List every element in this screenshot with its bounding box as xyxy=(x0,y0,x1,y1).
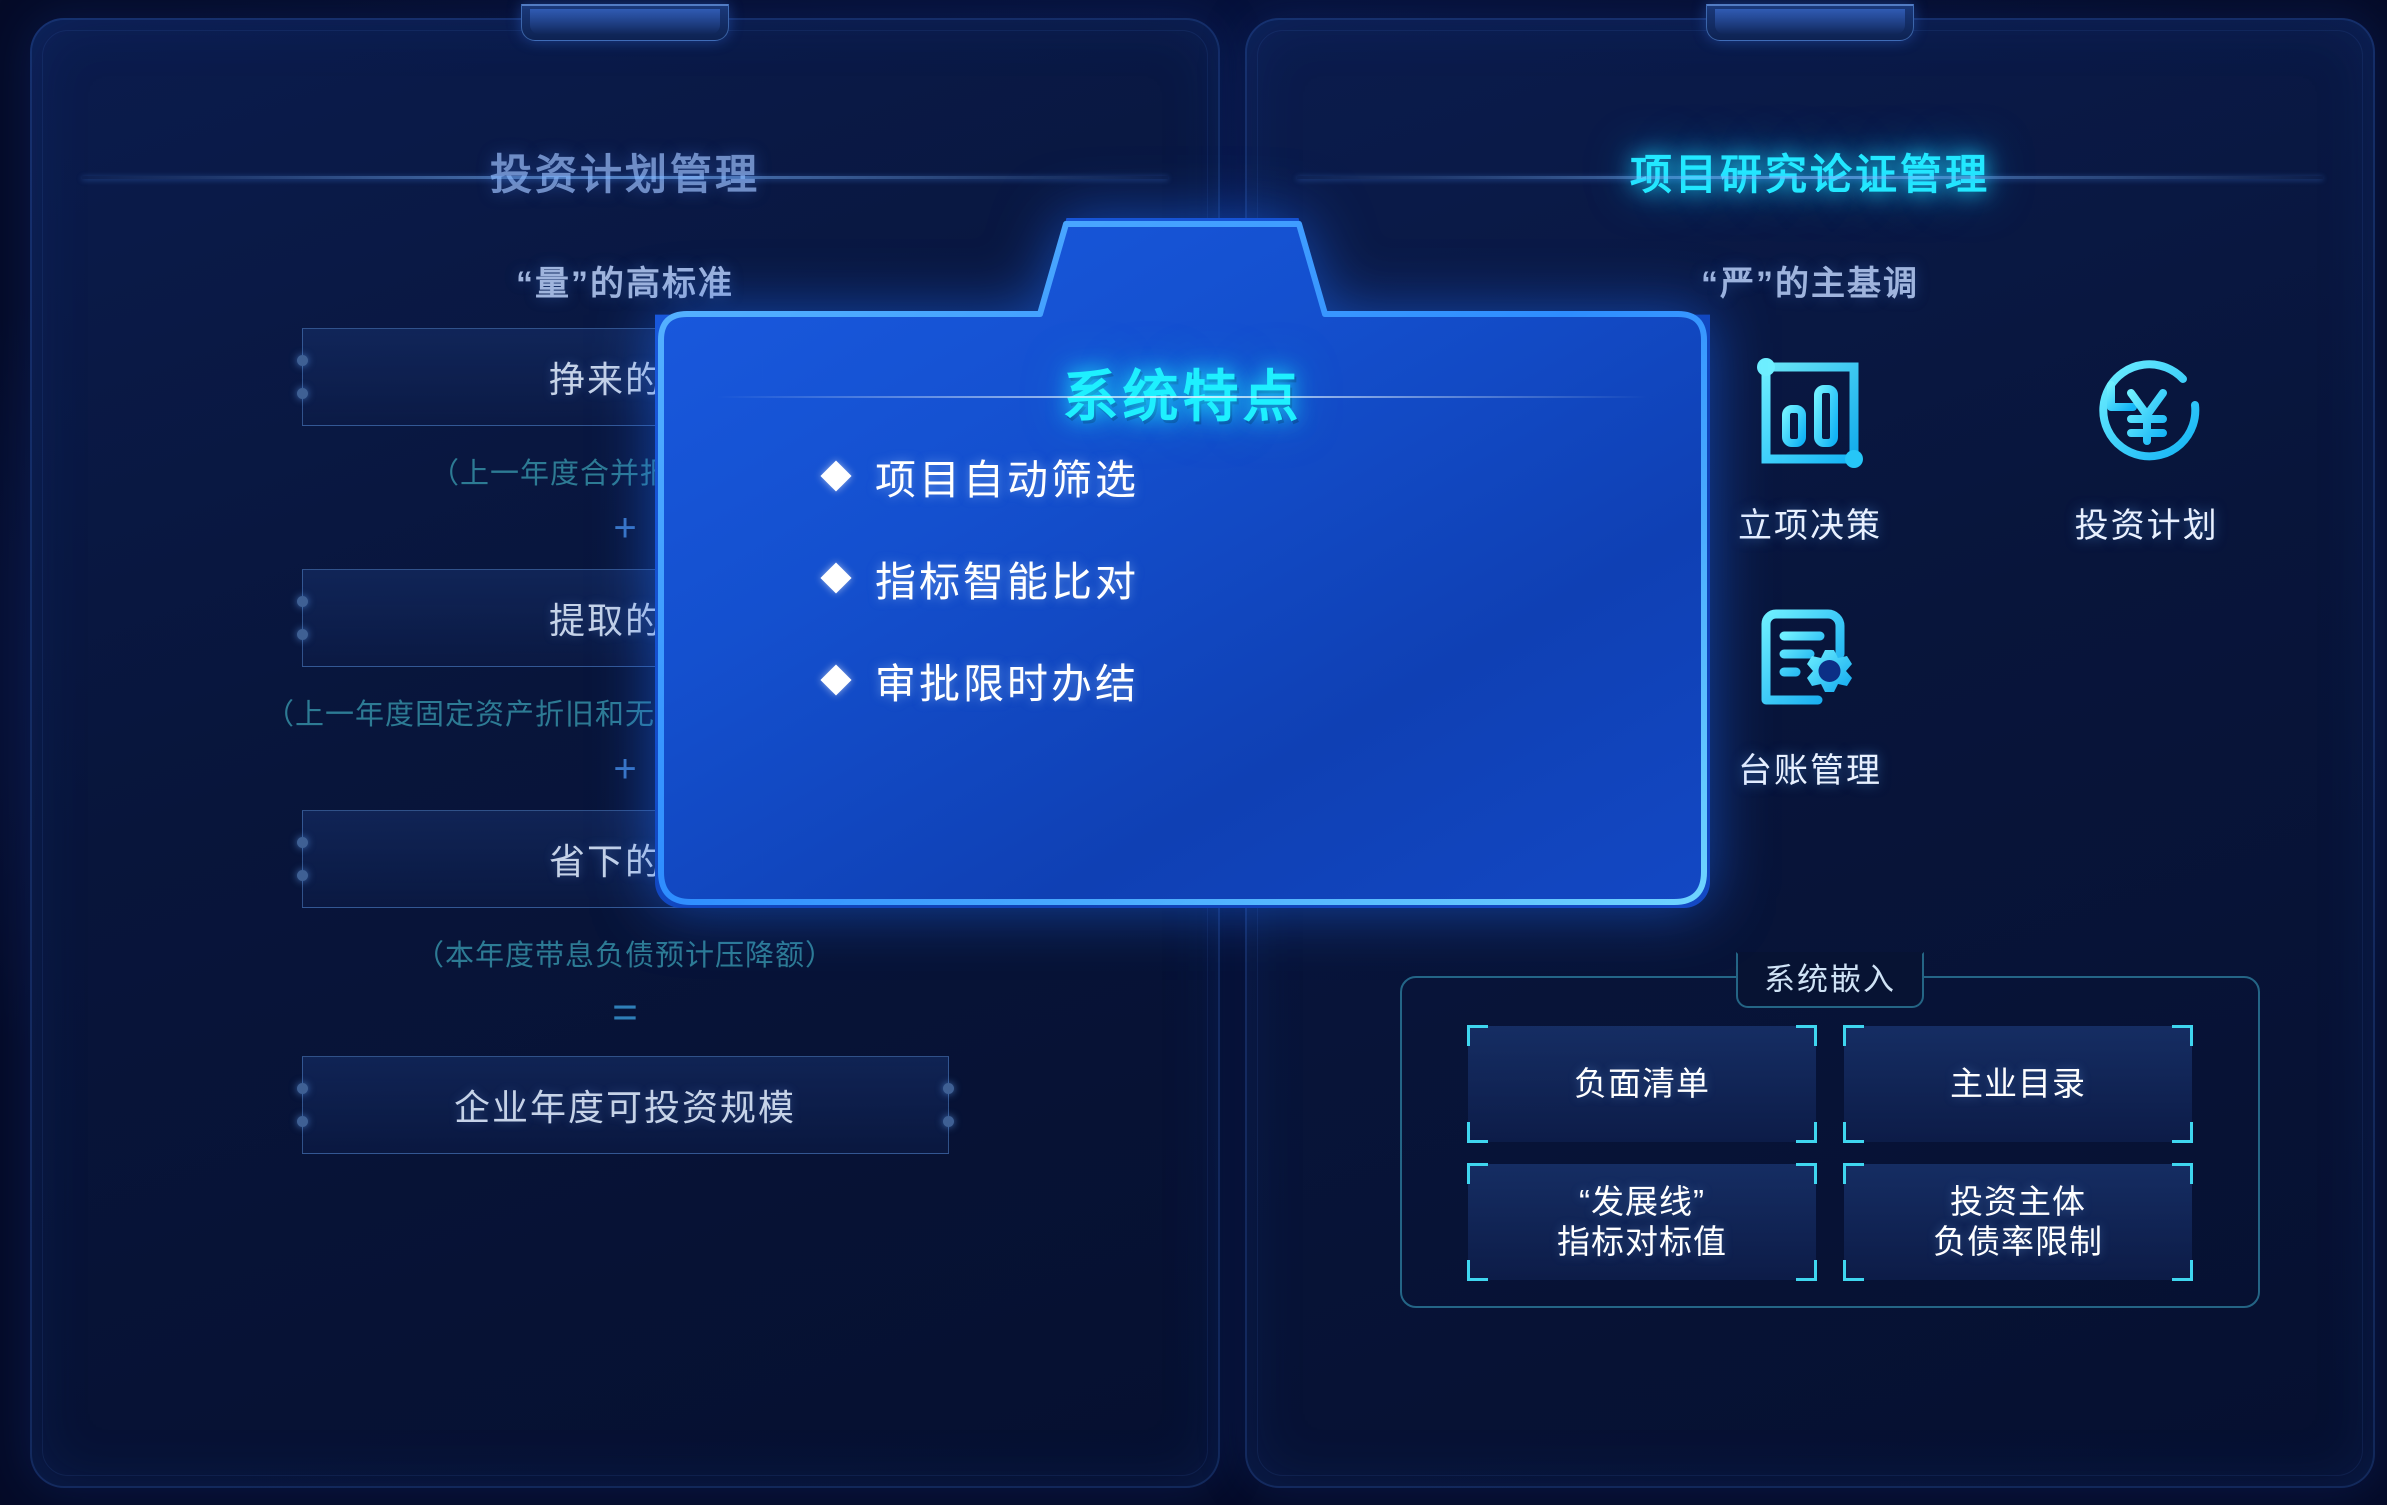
box-dot-icon xyxy=(297,1116,308,1127)
box-dot-icon xyxy=(943,1083,954,1094)
yuan-cycle-icon xyxy=(2083,338,2211,488)
embed-cell-label: “发展线” xyxy=(1579,1183,1705,1220)
system-features-popup[interactable]: 系统特点 项目自动筛选 指标智能比对 审批限时办结 xyxy=(655,218,1710,908)
corner-bracket-icon xyxy=(1843,1163,1864,1184)
right-title-divider xyxy=(1297,176,2323,179)
popup-divider xyxy=(717,396,1648,398)
box-dot-icon xyxy=(297,1083,308,1094)
diamond-bullet-icon xyxy=(820,460,851,491)
corner-bracket-icon xyxy=(2172,1260,2193,1281)
formula-note: （本年度带息负债预计压降额） xyxy=(30,932,1220,974)
module-label: 台账管理 xyxy=(1738,743,1882,792)
box-dot-icon xyxy=(297,837,308,848)
right-panel-title: 项目研究论证管理 xyxy=(1245,141,2375,202)
panel-handle-left xyxy=(521,4,729,41)
corner-bracket-icon xyxy=(1467,1025,1488,1046)
box-dot-icon xyxy=(297,355,308,366)
feature-label: 审批限时办结 xyxy=(875,650,1139,710)
feature-item: 指标智能比对 xyxy=(825,548,1710,608)
box-dot-icon xyxy=(297,388,308,399)
popup-title: 系统特点 xyxy=(655,352,1710,433)
embed-cell-development-line[interactable]: “发展线” 指标对标值 xyxy=(1468,1164,1816,1280)
embed-cell-label: 投资主体 xyxy=(1950,1183,2086,1220)
feature-label: 项目自动筛选 xyxy=(875,446,1139,506)
embed-cell-sublabel: 指标对标值 xyxy=(1557,1223,1727,1260)
corner-bracket-icon xyxy=(1796,1163,1817,1184)
system-embed-grid: 负面清单 主业目录 “发展线” 指标对标值 xyxy=(1468,1026,2192,1280)
popup-feature-list: 项目自动筛选 指标智能比对 审批限时办结 xyxy=(655,446,1710,752)
box-dot-icon xyxy=(943,1116,954,1127)
box-dot-icon xyxy=(297,870,308,881)
feature-label: 指标智能比对 xyxy=(875,548,1139,608)
embed-cell-sublabel: 负债率限制 xyxy=(1933,1223,2103,1260)
box-dot-icon xyxy=(297,596,308,607)
feature-item: 项目自动筛选 xyxy=(825,446,1710,506)
corner-bracket-icon xyxy=(1467,1163,1488,1184)
system-embed-legend: 系统嵌入 xyxy=(1736,952,1924,1008)
left-title-divider xyxy=(82,176,1168,179)
bar-chart-icon xyxy=(1746,338,1874,488)
corner-bracket-icon xyxy=(1796,1260,1817,1281)
module-label: 立项决策 xyxy=(1738,498,1882,547)
corner-bracket-icon xyxy=(2172,1122,2193,1143)
embed-cell-negative-list[interactable]: 负面清单 xyxy=(1468,1026,1816,1142)
corner-bracket-icon xyxy=(1843,1122,1864,1143)
system-embed-group: 系统嵌入 负面清单 主业目录 “发展线” xyxy=(1400,976,2260,1308)
left-panel-title: 投资计划管理 xyxy=(30,141,1220,202)
corner-bracket-icon xyxy=(1467,1260,1488,1281)
embed-cell-label: 主业目录 xyxy=(1950,1064,2086,1104)
corner-bracket-icon xyxy=(1843,1025,1864,1046)
formula-box-label: 企业年度可投资规模 xyxy=(454,1079,796,1131)
embed-cell-label: 负面清单 xyxy=(1574,1064,1710,1104)
diamond-bullet-icon xyxy=(820,664,851,695)
corner-bracket-icon xyxy=(2172,1025,2193,1046)
document-gear-icon xyxy=(1746,583,1874,733)
box-dot-icon xyxy=(297,629,308,640)
corner-bracket-icon xyxy=(2172,1163,2193,1184)
embed-cell-investor-debt-limit[interactable]: 投资主体 负债率限制 xyxy=(1844,1164,2192,1280)
corner-bracket-icon xyxy=(1843,1260,1864,1281)
module-item-investment-plan[interactable]: 投资计划 xyxy=(1978,338,2315,547)
corner-bracket-icon xyxy=(1467,1122,1488,1143)
feature-item: 审批限时办结 xyxy=(825,650,1710,710)
embed-cell-main-business-catalog[interactable]: 主业目录 xyxy=(1844,1026,2192,1142)
formula-box-result: 企业年度可投资规模 xyxy=(302,1056,949,1154)
panel-handle-right xyxy=(1706,4,1914,41)
corner-bracket-icon xyxy=(1796,1122,1817,1143)
module-label: 投资计划 xyxy=(2075,498,2219,547)
diamond-bullet-icon xyxy=(820,562,851,593)
corner-bracket-icon xyxy=(1796,1025,1817,1046)
formula-operator: = xyxy=(30,988,1220,1038)
